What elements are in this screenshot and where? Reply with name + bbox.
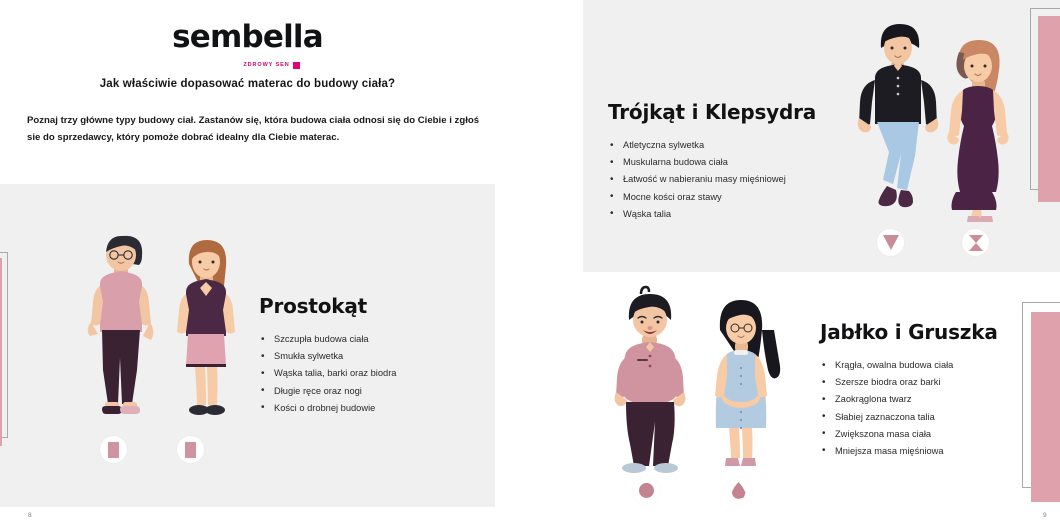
triangle-icon bbox=[883, 235, 899, 250]
logo-square-icon bbox=[293, 62, 300, 69]
logo-tagline-group: ZDROWY SEN bbox=[243, 62, 299, 69]
section-title-prostokat: Prostokąt bbox=[259, 294, 489, 318]
rectangle-icon bbox=[108, 442, 119, 458]
badge-hourglass bbox=[962, 229, 989, 256]
page-title: Jak właściwie dopasować materac do budow… bbox=[0, 78, 495, 90]
badge-triangle bbox=[877, 229, 904, 256]
bullet-list-jablko: Krągła, owalna budowa ciała Szersze biod… bbox=[820, 357, 1060, 460]
list-item: Szczupła budowa ciała bbox=[259, 331, 489, 348]
illustration-woman-rectangle bbox=[164, 230, 248, 420]
bullet-list-prostokat: Szczupła budowa ciała Smukła sylwetka Wą… bbox=[259, 331, 489, 417]
page-number-right: 9 bbox=[1043, 512, 1047, 519]
list-item: Szersze biodra oraz barki bbox=[820, 374, 1060, 391]
list-item: Wąska talia, barki oraz biodra bbox=[259, 365, 489, 382]
list-item: Słabiej zaznaczona talia bbox=[820, 409, 1060, 426]
illustration-man-triangle bbox=[855, 16, 941, 216]
logo-tagline: ZDROWY SEN bbox=[243, 62, 289, 68]
section-prostokat: Prostokąt Szczupła budowa ciała Smukła s… bbox=[259, 294, 489, 417]
section-jablko-gruszka: Jabłko i Gruszka Krągła, owalna budowa c… bbox=[820, 320, 1060, 460]
illustration-man-apple bbox=[605, 286, 695, 476]
list-item: Zaokrąglona twarz bbox=[820, 391, 1060, 408]
hourglass-icon bbox=[969, 235, 983, 251]
illustration-woman-pear bbox=[698, 292, 784, 480]
badge-rectangle-woman bbox=[177, 436, 204, 463]
rectangle-icon bbox=[185, 442, 196, 458]
list-item: Długie ręce oraz nogi bbox=[259, 383, 489, 400]
badge-rectangle-man bbox=[100, 436, 127, 463]
badge-pear bbox=[725, 477, 752, 504]
list-item: Smukła sylwetka bbox=[259, 348, 489, 365]
logo-wordmark: sembella bbox=[0, 22, 495, 53]
list-item: Krągła, owalna budowa ciała bbox=[820, 357, 1060, 374]
list-item: Mniejsza masa mięśniowa bbox=[820, 443, 1060, 460]
intro-paragraph: Poznaj trzy główne typy budowy ciał. Zas… bbox=[27, 113, 489, 147]
presentation-stage: sembella ZDROWY SEN Jak właściwie dopaso… bbox=[0, 0, 1060, 527]
badge-apple bbox=[633, 477, 660, 504]
page-number-left: 8 bbox=[28, 512, 32, 519]
list-item: Zwiększona masa ciała bbox=[820, 426, 1060, 443]
brand-logo: sembella ZDROWY SEN bbox=[0, 22, 495, 71]
deco-pink-right-top bbox=[1038, 16, 1060, 202]
deco-pink-left bbox=[0, 258, 2, 446]
apple-icon bbox=[639, 483, 654, 498]
illustration-woman-hourglass bbox=[935, 32, 1021, 222]
list-item: Kości o drobnej budowie bbox=[259, 400, 489, 417]
section-title-jablko: Jabłko i Gruszka bbox=[820, 320, 1060, 344]
pear-icon bbox=[732, 482, 746, 499]
illustration-man-rectangle bbox=[78, 224, 164, 420]
slide-left: sembella ZDROWY SEN Jak właściwie dopaso… bbox=[0, 0, 495, 527]
